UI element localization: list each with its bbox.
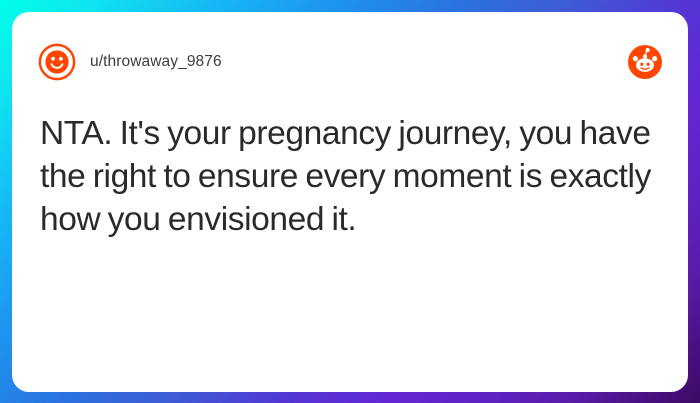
smiley-face-avatar-icon[interactable] bbox=[38, 43, 76, 81]
post-text: NTA. It's your pregnancy journey, you ha… bbox=[40, 112, 660, 242]
user-identity-block[interactable]: u/throwaway_9876 bbox=[38, 43, 628, 81]
post-card: u/throwaway_9876 NTA. It's your pregnanc… bbox=[12, 12, 688, 392]
post-card-header: u/throwaway_9876 bbox=[12, 12, 688, 112]
username-label: u/throwaway_9876 bbox=[90, 53, 222, 71]
reddit-snoo-logo-icon[interactable] bbox=[628, 45, 662, 79]
post-body: NTA. It's your pregnancy journey, you ha… bbox=[12, 112, 688, 242]
